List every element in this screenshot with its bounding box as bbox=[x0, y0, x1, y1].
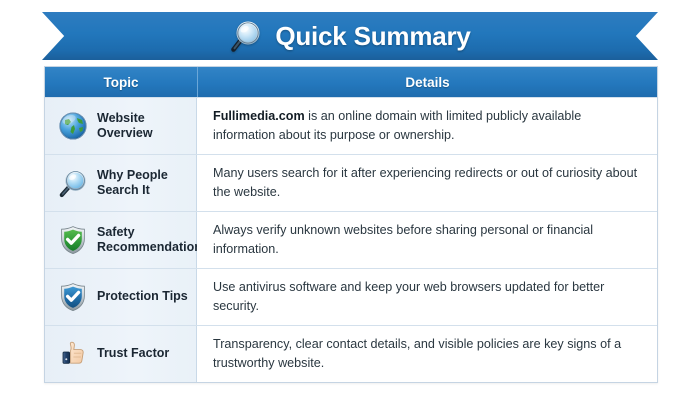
topic-label: Website Overview bbox=[97, 111, 190, 142]
topic-cell: Trust Factor bbox=[45, 326, 197, 382]
topic-cell: Why People Search It bbox=[45, 155, 197, 211]
details-cell: Transparency, clear contact details, and… bbox=[197, 326, 657, 382]
table-row: Trust Factor Transparency, clear contact… bbox=[45, 325, 657, 382]
details-cell: Use antivirus software and keep your web… bbox=[197, 269, 657, 325]
banner-content: Quick Summary bbox=[42, 12, 658, 60]
banner: Quick Summary bbox=[42, 12, 658, 60]
magnifier-icon bbox=[58, 168, 88, 198]
details-text: Use antivirus software and keep your web… bbox=[213, 278, 641, 316]
details-cell: Fullimedia.com is an online domain with … bbox=[197, 98, 657, 154]
green-shield-check-icon bbox=[58, 225, 88, 255]
globe-icon bbox=[58, 111, 88, 141]
table-row: Protection Tips Use antivirus software a… bbox=[45, 268, 657, 325]
topic-label: Trust Factor bbox=[97, 346, 169, 361]
column-header-details: Details bbox=[198, 67, 657, 97]
topic-label: Why People Search It bbox=[97, 168, 190, 199]
details-rest: Use antivirus software and keep your web… bbox=[213, 280, 604, 313]
details-text: Transparency, clear contact details, and… bbox=[213, 335, 641, 373]
details-text: Many users search for it after experienc… bbox=[213, 164, 641, 202]
banner-title: Quick Summary bbox=[275, 21, 470, 52]
topic-label: Protection Tips bbox=[97, 289, 188, 304]
table-row: Safety Recommendation Always verify unkn… bbox=[45, 211, 657, 268]
summary-table: Topic Details bbox=[44, 66, 658, 383]
topic-label: Safety Recommendation bbox=[97, 225, 202, 256]
thumbs-up-icon bbox=[58, 339, 88, 369]
table-row: Why People Search It Many users search f… bbox=[45, 154, 657, 211]
magnifier-icon bbox=[229, 19, 263, 53]
details-text: Always verify unknown websites before sh… bbox=[213, 221, 641, 259]
details-rest: Many users search for it after experienc… bbox=[213, 166, 637, 199]
table-row: Website Overview Fullimedia.com is an on… bbox=[45, 97, 657, 154]
details-cell: Many users search for it after experienc… bbox=[197, 155, 657, 211]
details-text: Fullimedia.com is an online domain with … bbox=[213, 107, 641, 145]
details-bold: Fullimedia.com bbox=[213, 109, 305, 123]
column-header-topic: Topic bbox=[45, 67, 198, 97]
details-rest: Always verify unknown websites before sh… bbox=[213, 223, 593, 256]
quick-summary-infographic: Quick Summary Topic Details bbox=[0, 0, 700, 420]
topic-cell: Safety Recommendation bbox=[45, 212, 197, 268]
table-header-row: Topic Details bbox=[45, 67, 657, 97]
topic-cell: Protection Tips bbox=[45, 269, 197, 325]
details-rest: Transparency, clear contact details, and… bbox=[213, 337, 621, 370]
details-cell: Always verify unknown websites before sh… bbox=[197, 212, 657, 268]
blue-shield-check-icon bbox=[58, 282, 88, 312]
topic-cell: Website Overview bbox=[45, 98, 197, 154]
